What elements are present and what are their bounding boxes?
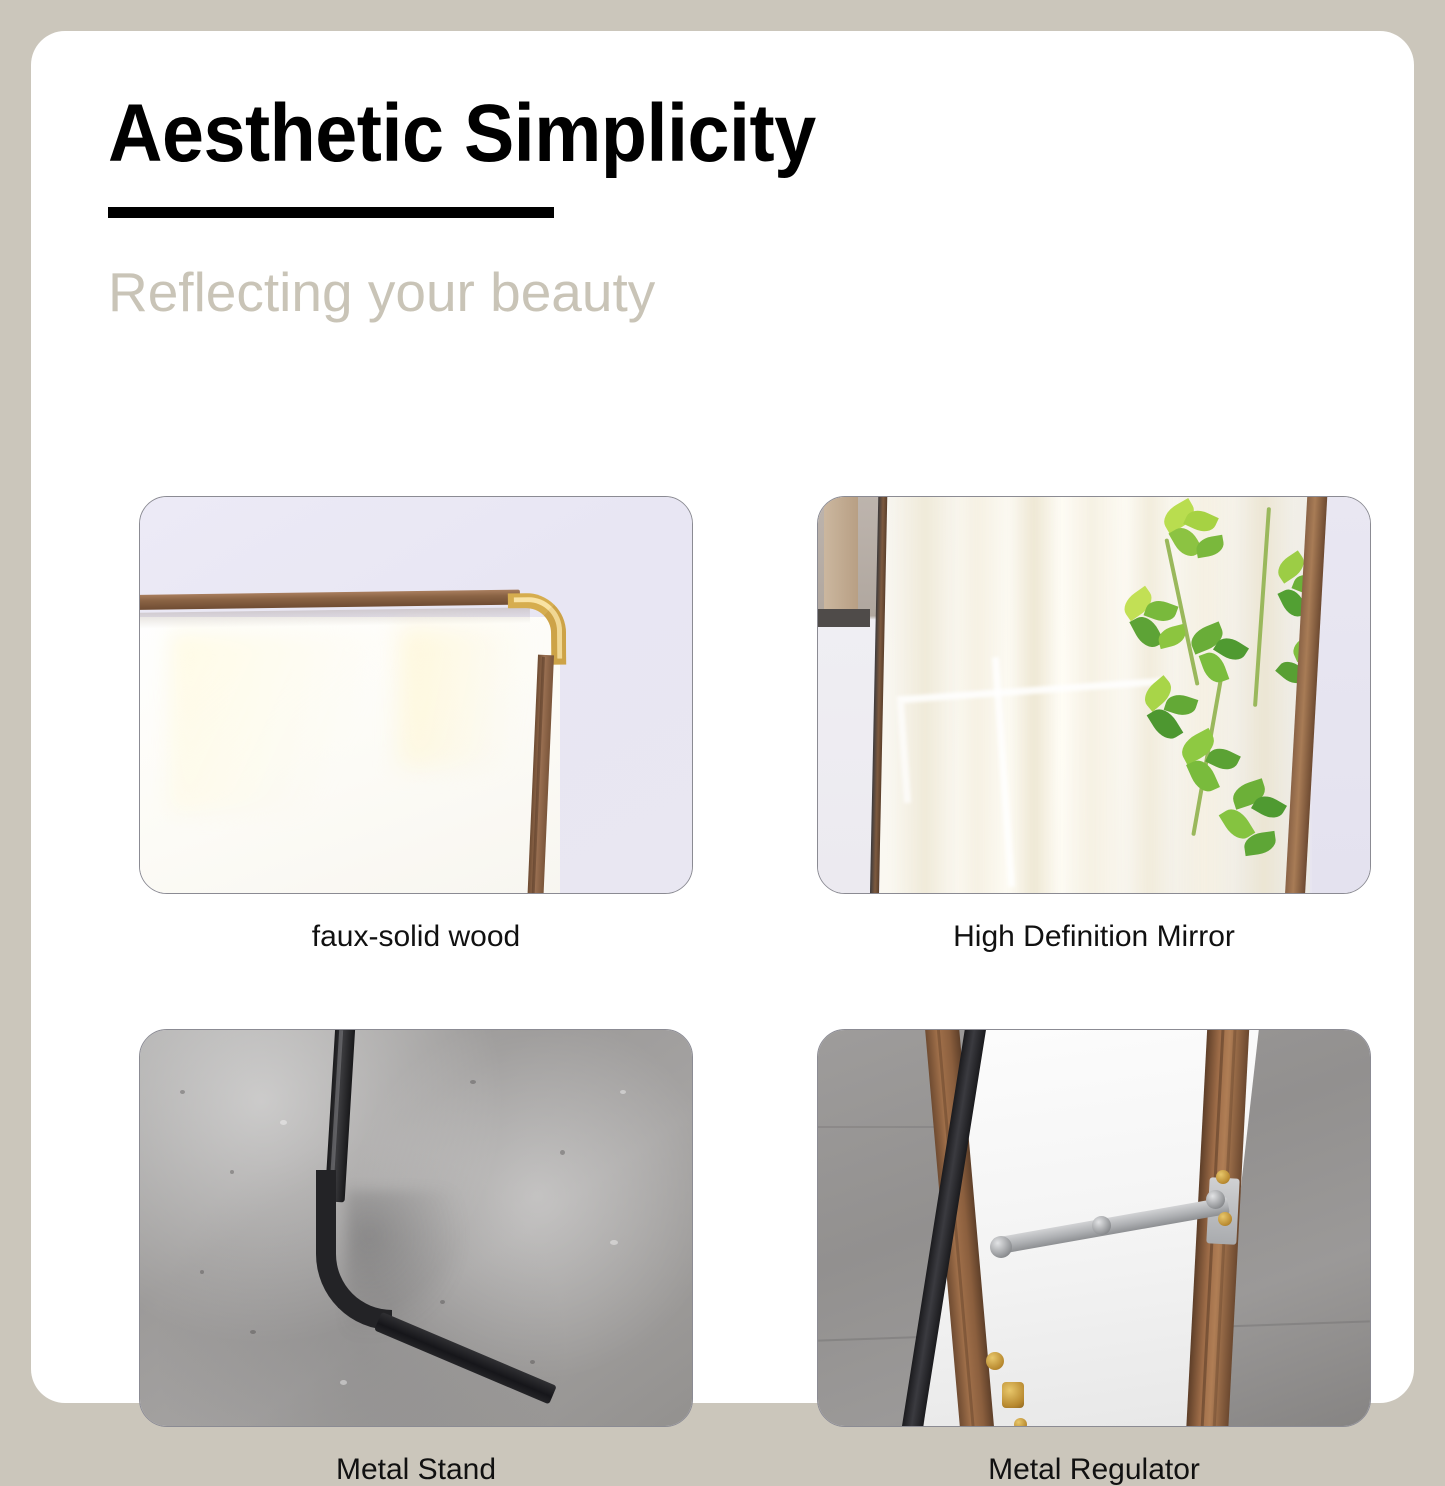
photo3-concrete-speck xyxy=(250,1330,256,1334)
photo4-brass-screw xyxy=(1218,1212,1232,1226)
feature-item-faux-solid-wood: faux-solid wood xyxy=(139,496,693,953)
photo3-concrete-speck xyxy=(470,1080,476,1084)
content-card: Aesthetic Simplicity Reflecting your bea… xyxy=(31,31,1414,1403)
photo4-brass-screw xyxy=(1216,1170,1230,1184)
mirror-corner-wood-frame-photo xyxy=(139,496,693,894)
feature-caption: High Definition Mirror xyxy=(817,920,1371,953)
feature-caption: faux-solid wood xyxy=(139,920,693,953)
photo2-window-frame-reflection xyxy=(897,678,1171,803)
photo4-bracket-pivot-bolt xyxy=(990,1236,1012,1258)
photo3-concrete-speck xyxy=(200,1270,204,1274)
feature-caption: Metal Stand xyxy=(139,1453,693,1486)
photo3-concrete-speck xyxy=(530,1360,535,1364)
photo1-glare-highlight xyxy=(170,632,410,812)
photo4-brass-screw xyxy=(1014,1418,1027,1427)
photo3-concrete-speck xyxy=(280,1120,287,1125)
photo3-concrete-speck xyxy=(340,1380,347,1385)
page-title: Aesthetic Simplicity xyxy=(108,93,1212,175)
feature-grid: faux-solid wood xyxy=(139,496,1371,1486)
feature-caption: Metal Regulator xyxy=(817,1453,1371,1486)
feature-item-high-definition-mirror: High Definition Mirror xyxy=(817,496,1371,953)
poster-background: Aesthetic Simplicity Reflecting your bea… xyxy=(0,0,1445,1445)
photo4-floor-seam-secondary xyxy=(818,1126,938,1128)
black-metal-tube-stand-concrete-photo xyxy=(139,1029,693,1427)
photo3-concrete-speck xyxy=(620,1090,626,1094)
mirror-reflection-curtain-plant-photo xyxy=(817,496,1371,894)
feature-item-metal-regulator: Metal Regulator xyxy=(817,1029,1371,1486)
photo3-concrete-speck xyxy=(230,1170,234,1174)
photo4-brass-screw xyxy=(986,1352,1004,1370)
photo2-mirror-glass xyxy=(880,497,1310,893)
photo3-concrete-speck xyxy=(560,1150,565,1155)
page-subtitle: Reflecting your beauty xyxy=(108,265,1308,320)
photo3-concrete-speck xyxy=(180,1090,185,1094)
title-underline-rule xyxy=(108,207,554,218)
metal-regulator-bracket-photo xyxy=(817,1029,1371,1427)
photo3-concrete-speck xyxy=(610,1240,618,1245)
feature-item-metal-stand: Metal Stand xyxy=(139,1029,693,1486)
photo4-bracket-end-bolt xyxy=(1206,1190,1225,1209)
photo4-brass-bracket-foot xyxy=(1002,1382,1024,1408)
photo2-left-wall-wood-panel xyxy=(824,497,858,613)
photo2-left-wall-dark-band xyxy=(818,609,870,627)
header: Aesthetic Simplicity Reflecting your bea… xyxy=(108,93,1308,320)
photo4-bracket-center-bolt xyxy=(1092,1216,1111,1235)
